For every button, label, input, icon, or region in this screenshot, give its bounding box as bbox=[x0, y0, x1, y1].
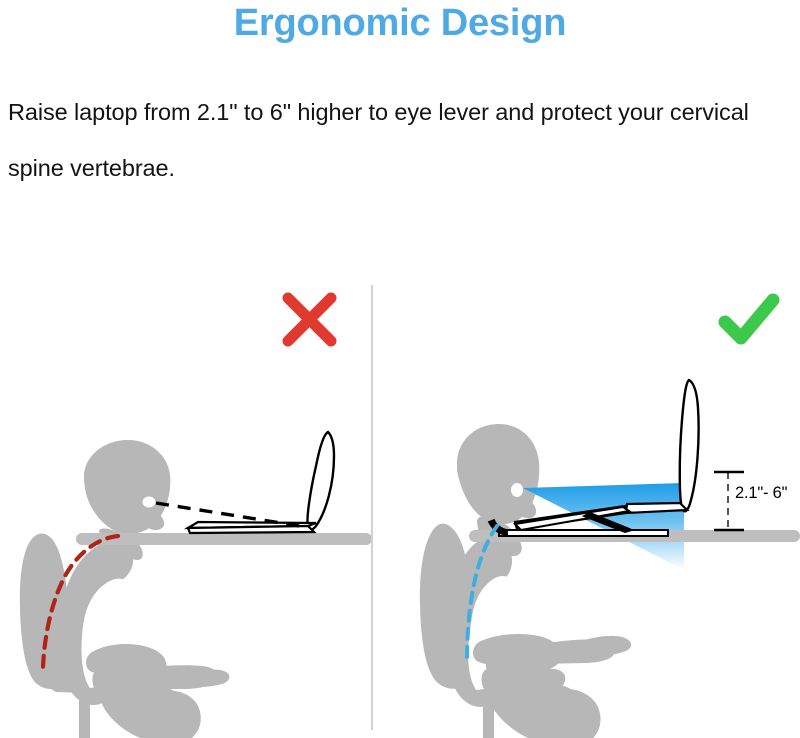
page-title: Ergonomic Design bbox=[0, 2, 800, 45]
seated-person-figure bbox=[414, 424, 643, 738]
page-root: Ergonomic Design Raise laptop from 2.1" … bbox=[0, 0, 800, 738]
panel-bad-posture bbox=[0, 200, 371, 738]
check-mark-icon bbox=[725, 300, 773, 338]
desk-surface bbox=[76, 533, 371, 545]
laptop-flat bbox=[188, 432, 334, 533]
dimension-label: 2.1"- 6" bbox=[735, 484, 787, 503]
page-subtitle: Raise laptop from 2.1" to 6" higher to e… bbox=[8, 84, 792, 196]
vision-cone bbox=[523, 483, 684, 570]
seated-person-figure bbox=[10, 440, 241, 738]
cross-mark-icon bbox=[288, 298, 331, 341]
panel-good-posture: 2.1"- 6" bbox=[373, 200, 800, 738]
header: Ergonomic Design Raise laptop from 2.1" … bbox=[0, 0, 800, 200]
illustration-area: 2.1"- 6" bbox=[0, 200, 800, 738]
